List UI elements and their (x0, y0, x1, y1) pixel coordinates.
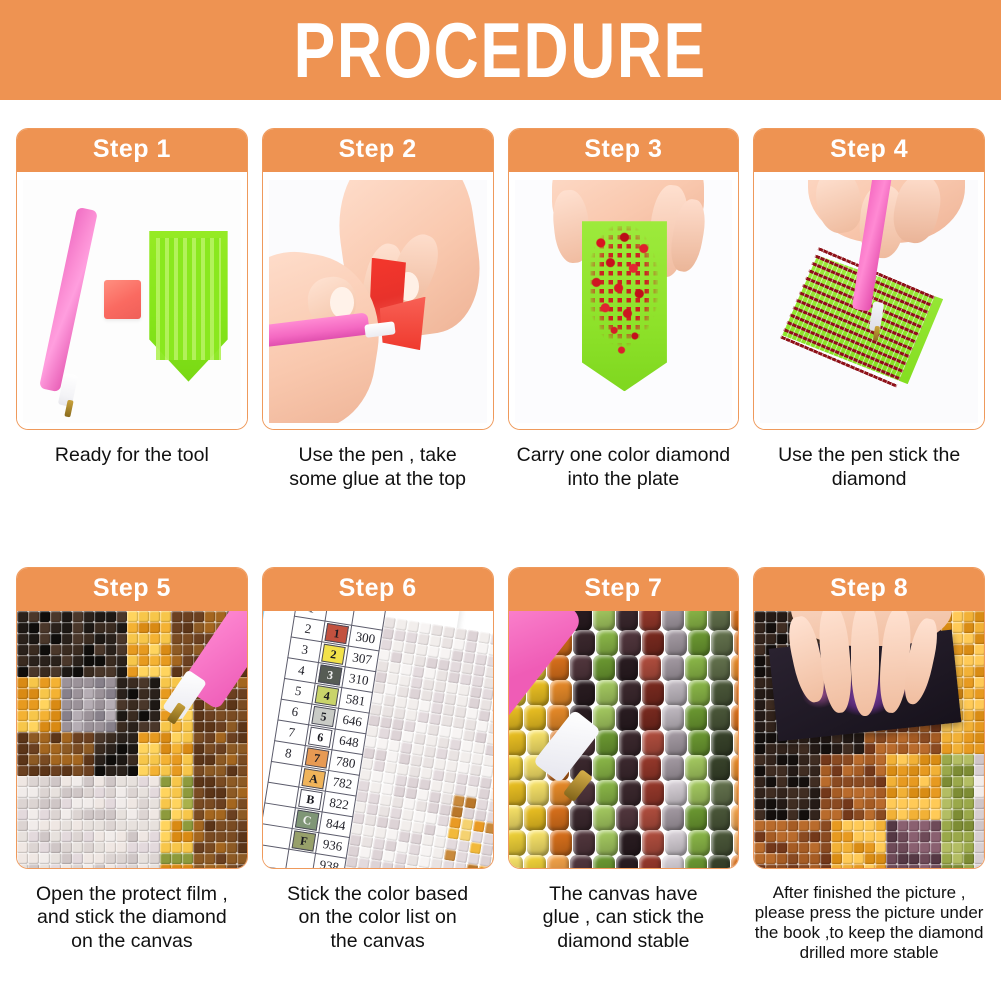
drill-bead (685, 805, 707, 831)
photo-dip-pen-in-glue (269, 180, 487, 423)
mosaic-pixel (72, 809, 83, 820)
mosaic-pixel (39, 633, 50, 644)
drill-bead (573, 830, 595, 856)
mosaic-pixel (72, 633, 83, 644)
mosaic-pixel (149, 809, 160, 820)
mosaic-pixel (28, 798, 39, 809)
mosaic-pixel (952, 743, 963, 754)
mosaic-pixel (215, 809, 226, 820)
mosaic-pixel (50, 809, 61, 820)
drill-bead (550, 680, 572, 706)
mosaic-pixel (182, 798, 193, 809)
mosaic-pixel (160, 677, 171, 688)
mosaic-pixel (160, 655, 171, 666)
mosaic-pixel (182, 776, 193, 787)
mosaic-pixel (875, 798, 886, 809)
mosaic-pixel (798, 820, 809, 831)
mosaic-pixel (963, 743, 974, 754)
mosaic-pixel (127, 743, 138, 754)
step-card-2: Step 2 (262, 128, 494, 430)
mosaic-pixel (182, 853, 193, 864)
mosaic-pixel (226, 754, 237, 765)
step-caption-3: Carry one color diamond into the plate (508, 444, 740, 492)
mosaic-pixel (237, 798, 247, 809)
mosaic-pixel (72, 721, 83, 732)
mosaic-pixel (897, 864, 908, 868)
drill-bead (619, 630, 641, 656)
step-cell-1: Step 1 Ready for the tool (16, 128, 248, 553)
mosaic-pixel (28, 831, 39, 842)
mosaic-pixel (94, 809, 105, 820)
mosaic-pixel (105, 820, 116, 831)
mosaic-pixel (842, 842, 853, 853)
mosaic-pixel (39, 732, 50, 743)
mosaic-pixel (193, 765, 204, 776)
mosaic-pixel (787, 754, 798, 765)
mosaic-pixel (204, 842, 215, 853)
mosaic-pixel (831, 787, 842, 798)
drill-bead (509, 830, 526, 856)
mosaic-pixel (138, 633, 149, 644)
mosaic-pixel (853, 864, 864, 868)
mosaic-pixel (864, 798, 875, 809)
drill-bead (642, 680, 664, 706)
mosaic-pixel (853, 732, 864, 743)
mosaic-pixel (974, 622, 984, 633)
mosaic-pixel (963, 666, 974, 677)
mosaic-pixel (237, 754, 247, 765)
mosaic-pixel (941, 831, 952, 842)
mosaic-pixel (820, 820, 831, 831)
drill-bead (734, 630, 739, 656)
mosaic-pixel (149, 721, 160, 732)
mosaic-pixel (875, 853, 886, 864)
mosaic-pixel (28, 765, 39, 776)
mosaic-pixel (809, 864, 820, 868)
mosaic-pixel (182, 644, 193, 655)
mosaic-pixel (941, 754, 952, 765)
mosaic-pixel (61, 633, 72, 644)
step-photo-5 (17, 611, 247, 868)
mosaic-pixel (50, 677, 61, 688)
mosaic-pixel (105, 732, 116, 743)
mosaic-pixel (754, 633, 765, 644)
mosaic-pixel (930, 732, 941, 743)
mosaic-pixel (171, 732, 182, 743)
drill-bead (662, 611, 684, 631)
mosaic-pixel (381, 861, 394, 868)
mosaic-pixel (226, 842, 237, 853)
mosaic-pixel (61, 688, 72, 699)
mosaic-pixel (941, 743, 952, 754)
mosaic-pixel (974, 666, 984, 677)
mosaic-pixel (171, 611, 182, 622)
drill-bead (573, 630, 595, 656)
mosaic-pixel (50, 710, 61, 721)
mosaic-pixel (919, 864, 930, 868)
mosaic-pixel (237, 732, 247, 743)
mosaic-pixel (875, 732, 886, 743)
mosaic-pixel (94, 721, 105, 732)
cell-no (263, 845, 289, 868)
drill-bead (685, 655, 707, 681)
mosaic-pixel (138, 776, 149, 787)
drill-bead (509, 805, 523, 831)
mosaic-pixel (798, 754, 809, 765)
mosaic-pixel (831, 743, 842, 754)
color-chip: A (301, 768, 326, 789)
mosaic-pixel (61, 666, 72, 677)
mosaic-pixel (127, 633, 138, 644)
mosaic-pixel (226, 831, 237, 842)
mosaic-pixel (72, 831, 83, 842)
mosaic-pixel (160, 864, 171, 868)
mosaic-pixel (908, 765, 919, 776)
mosaic-pixel (116, 776, 127, 787)
mosaic-pixel (105, 677, 116, 688)
mosaic-pixel (116, 787, 127, 798)
step-card-8: Step 8 (753, 567, 985, 869)
mosaic-pixel (765, 732, 776, 743)
drill-bead (550, 830, 572, 856)
drill-bead (711, 780, 733, 806)
mosaic-pixel (17, 743, 28, 754)
drill-bead (731, 855, 739, 868)
drill-bead (642, 780, 664, 806)
mosaic-pixel (50, 787, 61, 798)
mosaic-pixel (908, 776, 919, 787)
mosaic-pixel (919, 820, 930, 831)
mosaic-pixel (974, 732, 984, 743)
drill-bead (509, 855, 523, 868)
mosaic-pixel (842, 798, 853, 809)
mosaic-pixel (974, 677, 984, 688)
mosaic-pixel (787, 809, 798, 820)
drill-bead (688, 780, 710, 806)
mosaic-pixel (17, 831, 28, 842)
mosaic-pixel (28, 710, 39, 721)
drill-bead (573, 680, 595, 706)
drill-bead (593, 655, 615, 681)
mosaic-pixel (105, 721, 116, 732)
drill-bead (524, 855, 546, 868)
drill-bead (596, 630, 618, 656)
mosaic-pixel (754, 655, 765, 666)
mosaic-pixel (204, 864, 215, 868)
mosaic-pixel (204, 732, 215, 743)
drill-bead (708, 655, 730, 681)
mosaic-pixel (182, 732, 193, 743)
mosaic-pixel (94, 710, 105, 721)
drill-bead (596, 730, 618, 756)
mosaic-pixel (83, 633, 94, 644)
mosaic-pixel (171, 798, 182, 809)
mosaic-pixel (149, 831, 160, 842)
mosaic-pixel (83, 688, 94, 699)
mosaic-pixel (215, 842, 226, 853)
mosaic-pixel (930, 842, 941, 853)
drill-bead (731, 611, 739, 631)
mosaic-pixel (28, 655, 39, 666)
mosaic-pixel (754, 743, 765, 754)
mosaic-pixel (930, 798, 941, 809)
drill-bead (665, 680, 687, 706)
mosaic-pixel (974, 655, 984, 666)
photo-pen-picks-drill (760, 180, 978, 423)
mosaic-pixel (754, 688, 765, 699)
mosaic-pixel (28, 864, 39, 868)
mosaic-pixel (94, 831, 105, 842)
mosaic-pixel (94, 842, 105, 853)
mosaic-pixel (237, 743, 247, 754)
step-header-4: Step 4 (754, 129, 984, 172)
mosaic-pixel (61, 743, 72, 754)
mosaic-pixel (39, 644, 50, 655)
mosaic-pixel (39, 754, 50, 765)
mosaic-pixel (875, 765, 886, 776)
mosaic-pixel (50, 765, 61, 776)
mosaic-pixel (72, 798, 83, 809)
mosaic-pixel (974, 809, 984, 820)
mosaic-pixel (50, 721, 61, 732)
mosaic-pixel (886, 842, 897, 853)
mosaic-pixel (974, 787, 984, 798)
mosaic-pixel (226, 699, 237, 710)
mosaic-pixel (28, 666, 39, 677)
mosaic-pixel (61, 809, 72, 820)
mosaic-pixel (853, 743, 864, 754)
mosaic-pixel (430, 858, 443, 868)
mosaic-pixel (17, 677, 28, 688)
mosaic-pixel (61, 732, 72, 743)
mosaic-pixel (138, 688, 149, 699)
drill-bead (570, 805, 592, 831)
mosaic-pixel (776, 787, 787, 798)
mosaic-pixel (842, 765, 853, 776)
mosaic-pixel (798, 831, 809, 842)
mosaic-pixel (94, 666, 105, 677)
mosaic-pixel (237, 842, 247, 853)
mosaic-pixel (138, 853, 149, 864)
mosaic-pixel (39, 776, 50, 787)
mosaic-pixel (820, 787, 831, 798)
mosaic-pixel (853, 809, 864, 820)
mosaic-pixel (369, 859, 382, 867)
mosaic-pixel (809, 820, 820, 831)
mosaic-pixel (171, 633, 182, 644)
mosaic-pixel (149, 710, 160, 721)
mosaic-pixel (798, 809, 809, 820)
mosaic-pixel (864, 765, 875, 776)
mosaic-pixel (61, 710, 72, 721)
mosaic-pixel (105, 831, 116, 842)
step-card-5: Step 5 (16, 567, 248, 869)
mosaic-pixel (864, 864, 875, 868)
mosaic-pixel (50, 798, 61, 809)
mosaic-pixel (182, 809, 193, 820)
mosaic-pixel (17, 732, 28, 743)
mosaic-pixel (171, 842, 182, 853)
mosaic-pixel (127, 853, 138, 864)
mosaic-pixel (204, 798, 215, 809)
mosaic-pixel (820, 842, 831, 853)
mosaic-pixel (83, 798, 94, 809)
mosaic-pixel (226, 710, 237, 721)
mosaic-pixel (875, 864, 886, 868)
mosaic-pixel (864, 820, 875, 831)
mosaic-pixel (138, 831, 149, 842)
mosaic-pixel (776, 842, 787, 853)
mosaic-pixel (61, 831, 72, 842)
mosaic-pixel (930, 864, 941, 868)
mosaic-pixel (204, 710, 215, 721)
drill-bead (662, 805, 684, 831)
drill-bead (711, 830, 733, 856)
mosaic-pixel (974, 699, 984, 710)
mosaic-pixel (875, 776, 886, 787)
step-photo-7 (509, 611, 739, 868)
mosaic-pixel (886, 853, 897, 864)
mosaic-pixel (787, 765, 798, 776)
color-chip: 3 (318, 665, 343, 686)
mosaic-pixel (127, 765, 138, 776)
mosaic-pixel (39, 853, 50, 864)
mosaic-pixel (215, 710, 226, 721)
mosaic-pixel (974, 754, 984, 765)
mosaic-pixel (138, 754, 149, 765)
mosaic-pixel (17, 644, 28, 655)
mosaic-pixel (886, 776, 897, 787)
drill-bead (665, 780, 687, 806)
mosaic-pixel (127, 798, 138, 809)
mosaic-pixel (226, 798, 237, 809)
mosaic-pixel (787, 831, 798, 842)
mosaic-pixel (17, 754, 28, 765)
mosaic-pixel (105, 666, 116, 677)
mosaic-pixel (776, 798, 787, 809)
mosaic-pixel (171, 765, 182, 776)
mosaic-pixel (831, 765, 842, 776)
mosaic-pixel (116, 754, 127, 765)
mosaic-pixel (853, 754, 864, 765)
mosaic-pixel (787, 787, 798, 798)
mosaic-pixel (875, 754, 886, 765)
mosaic-pixel (864, 809, 875, 820)
mosaic-pixel (226, 864, 237, 868)
mosaic-pixel (886, 831, 897, 842)
mosaic-pixel (853, 831, 864, 842)
mosaic-pixel (17, 699, 28, 710)
color-chip: 6 (308, 727, 333, 748)
mosaic-pixel (116, 644, 127, 655)
step-cell-4: Step 4 Use the pen stick the d (753, 128, 985, 553)
mosaic-pixel (160, 611, 171, 622)
mosaic-pixel (974, 820, 984, 831)
step-photo-6: 121300323074331054581656467664887780A782… (263, 611, 493, 868)
mosaic-pixel (149, 732, 160, 743)
mosaic-pixel (930, 743, 941, 754)
mosaic-pixel (50, 853, 61, 864)
drill-bead (688, 730, 710, 756)
mosaic-pixel (72, 677, 83, 688)
mosaic-pixel (963, 655, 974, 666)
mosaic-pixel (39, 798, 50, 809)
mosaic-pixel (61, 864, 72, 868)
mosaic-pixel (237, 831, 247, 842)
mosaic-pixel (418, 856, 431, 868)
mosaic-pixel (831, 776, 842, 787)
mosaic-pixel (963, 798, 974, 809)
mosaic-pixel (454, 861, 467, 867)
mosaic-pixel (215, 787, 226, 798)
mosaic-pixel (138, 710, 149, 721)
mosaic-pixel (204, 787, 215, 798)
mosaic-pixel (94, 622, 105, 633)
drill-bead (642, 630, 664, 656)
drill-bead (685, 705, 707, 731)
mosaic-pixel (237, 809, 247, 820)
step-caption-5: Open the protect film , and stick the di… (16, 883, 248, 954)
mosaic-pixel (204, 765, 215, 776)
mosaic-pixel (754, 798, 765, 809)
drill-bead (547, 855, 569, 868)
mosaic-pixel (765, 622, 776, 633)
drill-bead (711, 730, 733, 756)
mosaic-pixel (941, 776, 952, 787)
drill-bead (596, 830, 618, 856)
mosaic-pixel (963, 710, 974, 721)
mosaic-pixel (149, 842, 160, 853)
mosaic-pixel (853, 820, 864, 831)
mosaic-pixel (105, 710, 116, 721)
mosaic-pixel (160, 842, 171, 853)
drill-bead (662, 855, 684, 868)
mosaic-pixel (204, 611, 215, 622)
mosaic-pixel (39, 688, 50, 699)
mosaic-pixel (886, 754, 897, 765)
mosaic-pixel (897, 842, 908, 853)
mosaic-pixel (72, 820, 83, 831)
mosaic-pixel (787, 776, 798, 787)
mosaic-pixel (171, 776, 182, 787)
mosaic-pixel (393, 863, 406, 868)
mosaic-pixel (105, 644, 116, 655)
mosaic-pixel (138, 677, 149, 688)
mosaic-pixel (941, 820, 952, 831)
mosaic-pixel (94, 655, 105, 666)
mosaic-pixel (919, 842, 930, 853)
mosaic-pixel (28, 622, 39, 633)
mosaic-pixel (765, 754, 776, 765)
mosaic-pixel (930, 853, 941, 864)
color-chip: 2 (321, 644, 346, 665)
step-cell-2: Step 2 (262, 128, 494, 553)
mosaic-pixel (765, 809, 776, 820)
mosaic-pixel (127, 655, 138, 666)
mosaic-pixel (908, 787, 919, 798)
mosaic-pixel (798, 765, 809, 776)
mosaic-pixel (776, 633, 787, 644)
drill-bead (639, 805, 661, 831)
mosaic-pixel (897, 787, 908, 798)
mosaic-pixel (138, 622, 149, 633)
mosaic-pixel (908, 809, 919, 820)
drill-bead (734, 830, 739, 856)
mosaic-pixel (28, 754, 39, 765)
mosaic-pixel (875, 831, 886, 842)
mosaic-pixel (215, 798, 226, 809)
mosaic-pixel (226, 765, 237, 776)
